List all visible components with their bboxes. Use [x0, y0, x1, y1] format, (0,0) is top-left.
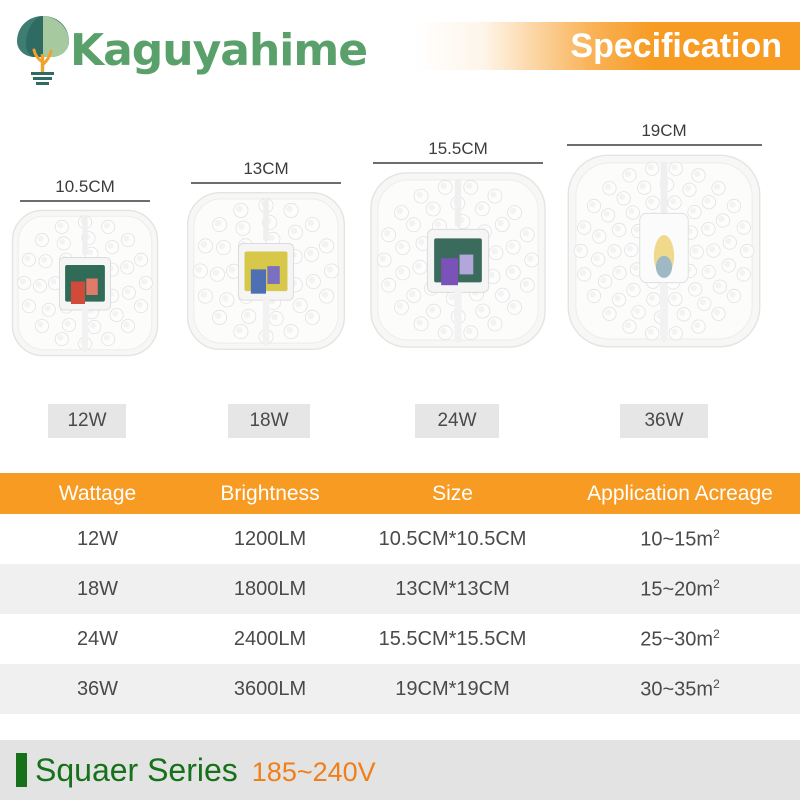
product-18w[interactable]: 13CM — [185, 160, 347, 352]
cell-brightness: 3600LM — [195, 678, 345, 701]
table-header-row: Wattage Brightness Size Application Acre… — [0, 473, 800, 514]
cell-wattage: 24W — [0, 628, 195, 651]
cell-wattage: 36W — [0, 678, 195, 701]
product-36w[interactable]: 19CM — [565, 122, 763, 350]
wattage-badge-24w: 24W — [415, 404, 499, 438]
cell-size: 10.5CM*10.5CM — [345, 528, 560, 551]
column-header-acreage: Application Acreage — [560, 482, 800, 506]
specification-table: Wattage Brightness Size Application Acre… — [0, 473, 800, 714]
cell-brightness: 1800LM — [195, 578, 345, 601]
specification-banner: Specification — [415, 22, 800, 70]
led-module-icon — [10, 208, 160, 358]
cell-brightness: 1200LM — [195, 528, 345, 551]
page-header: Kaguyahime Specification — [0, 0, 800, 100]
led-module-icon — [368, 170, 548, 350]
cell-brightness: 2400LM — [195, 628, 345, 651]
cell-size: 19CM*19CM — [345, 678, 560, 701]
dimension-rule — [373, 162, 543, 164]
led-module-icon — [185, 190, 347, 352]
series-label: Squaer Series — [35, 752, 238, 789]
dimension-label: 15.5CM — [428, 140, 488, 159]
specification-page: Kaguyahime Specification 10.5CM 13CM 15.… — [0, 0, 800, 800]
dimension-label: 19CM — [641, 122, 686, 141]
wattage-badge-row: 12W18W24W36W — [0, 404, 800, 444]
cell-wattage: 18W — [0, 578, 195, 601]
lamp-bulb-icon — [14, 10, 72, 88]
table-row: 36W3600LM19CM*19CM30~35m2 — [0, 664, 800, 714]
table-row: 24W2400LM15.5CM*15.5CM25~30m2 — [0, 614, 800, 664]
cell-acreage: 30~35m2 — [560, 677, 800, 702]
table-row: 12W1200LM10.5CM*10.5CM10~15m2 — [0, 514, 800, 564]
brand-name: Kaguyahime — [70, 29, 367, 73]
voltage-label: 185~240V — [252, 757, 376, 788]
cell-wattage: 12W — [0, 528, 195, 551]
cell-size: 13CM*13CM — [345, 578, 560, 601]
table-body: 12W1200LM10.5CM*10.5CM10~15m218W1800LM13… — [0, 514, 800, 714]
product-gallery: 10.5CM 13CM 15.5CM 19CM — [0, 100, 800, 455]
dimension-label: 13CM — [243, 160, 288, 179]
product-24w[interactable]: 15.5CM — [368, 140, 548, 350]
dimension-label: 10.5CM — [55, 178, 115, 197]
column-header-brightness: Brightness — [195, 482, 345, 506]
series-footer: Squaer Series 185~240V — [0, 740, 800, 800]
dimension-rule — [20, 200, 150, 202]
specification-banner-label: Specification — [570, 27, 800, 66]
wattage-badge-12w: 12W — [48, 404, 126, 438]
wattage-badge-18w: 18W — [228, 404, 310, 438]
product-12w[interactable]: 10.5CM — [10, 178, 160, 358]
cell-acreage: 10~15m2 — [560, 527, 800, 552]
column-header-wattage: Wattage — [0, 482, 195, 506]
column-header-size: Size — [345, 482, 560, 506]
dimension-rule — [567, 144, 762, 146]
led-module-icon — [565, 152, 763, 350]
dimension-rule — [191, 182, 341, 184]
cell-acreage: 25~30m2 — [560, 627, 800, 652]
cell-acreage: 15~20m2 — [560, 577, 800, 602]
cell-size: 15.5CM*15.5CM — [345, 628, 560, 651]
footer-accent-bar — [16, 753, 27, 787]
wattage-badge-36w: 36W — [620, 404, 708, 438]
table-row: 18W1800LM13CM*13CM15~20m2 — [0, 564, 800, 614]
brand-logo[interactable]: Kaguyahime — [14, 10, 367, 88]
